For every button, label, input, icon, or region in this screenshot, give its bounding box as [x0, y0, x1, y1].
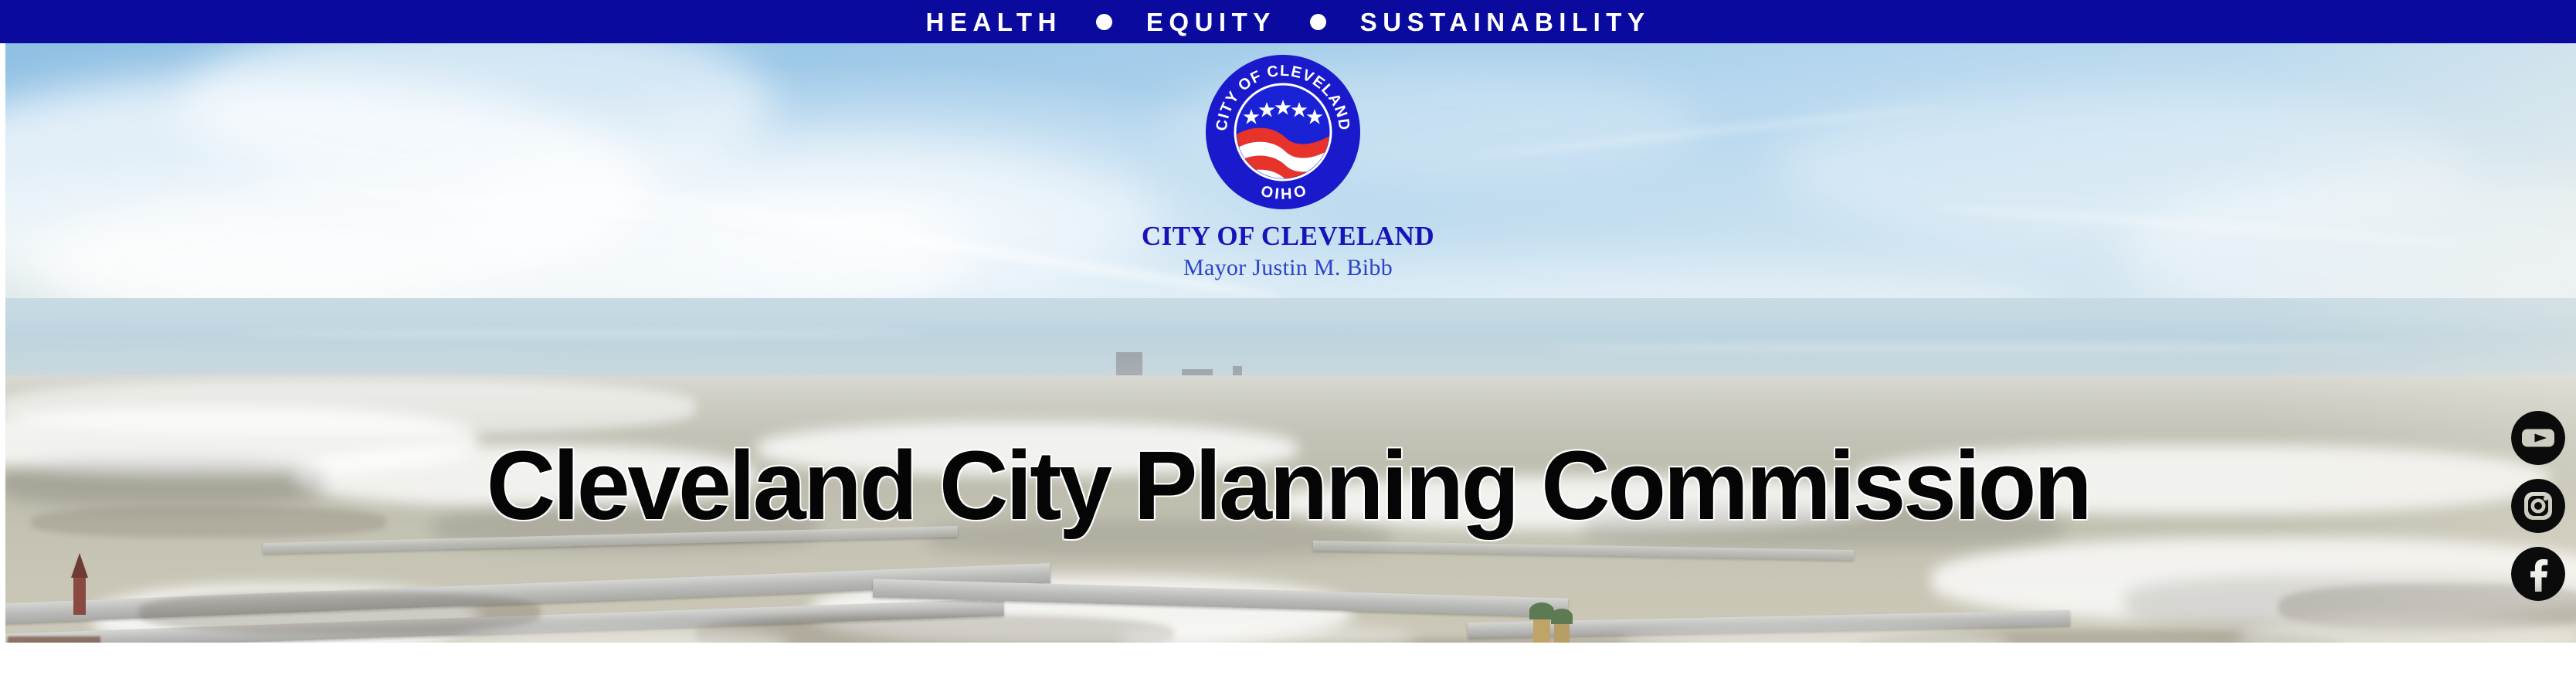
- tagline-word-equity: EQUITY: [1146, 9, 1276, 35]
- tagline-word-health: HEALTH: [926, 9, 1062, 35]
- brand-mayor-name: Mayor Justin M. Bibb: [0, 256, 2576, 280]
- footer-whitespace: [0, 643, 2576, 682]
- bullet-dot-icon: [1096, 14, 1112, 30]
- social-link-youtube[interactable]: [2511, 411, 2565, 465]
- bullet-dot-icon: [1310, 14, 1326, 30]
- city-of-cleveland-seal-icon: CITY OF CLEVELAND OHIO: [1203, 53, 1363, 212]
- brand-block: CITY OF CLEVELAND Mayor Justin M. Bibb: [0, 222, 2576, 280]
- social-link-facebook[interactable]: [2511, 547, 2565, 601]
- tagline-banner-inner: HEALTH EQUITY SUSTAINABILITY: [926, 9, 1651, 35]
- page-title: Cleveland City Planning Commission: [19, 437, 2557, 534]
- social-links: [2511, 411, 2567, 615]
- page-root: HEALTH EQUITY SUSTAINABILITY: [0, 0, 2576, 682]
- social-link-instagram[interactable]: [2511, 479, 2565, 533]
- tagline-banner: HEALTH EQUITY SUSTAINABILITY: [0, 0, 2576, 43]
- tagline-word-sustainability: SUSTAINABILITY: [1360, 9, 1651, 35]
- brand-city-name: CITY OF CLEVELAND: [0, 222, 2576, 249]
- image-left-border: [0, 43, 5, 643]
